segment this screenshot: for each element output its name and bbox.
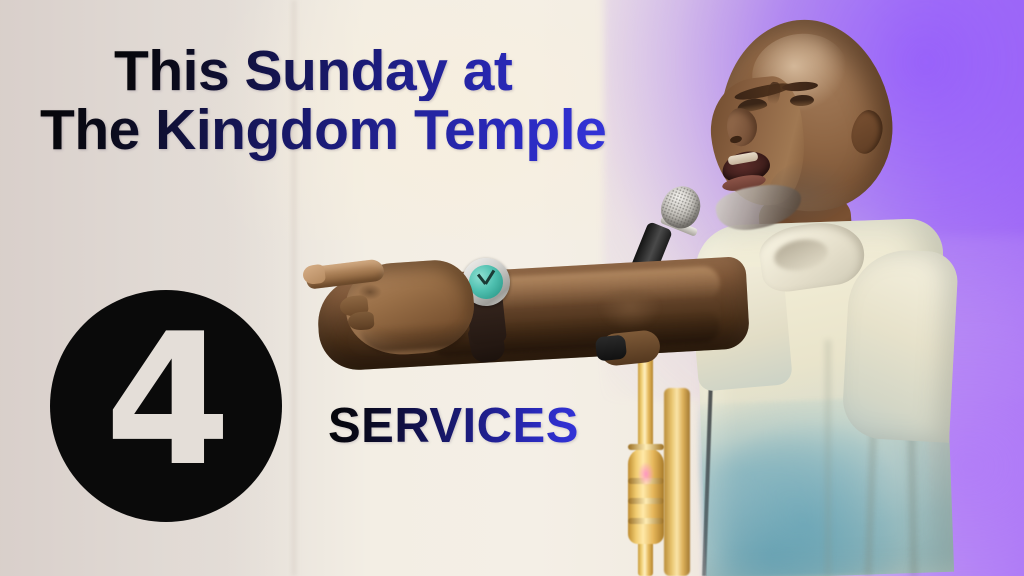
right-shoulder	[841, 247, 959, 442]
shirt-fold	[824, 340, 832, 576]
services-label: SERVICES	[328, 398, 579, 454]
service-count-badge: 4	[50, 290, 282, 522]
poster-canvas: This Sunday at The Kingdom Temple 4 SERV…	[0, 0, 1024, 576]
microphone-tail	[595, 334, 627, 361]
headline-line-1: This Sunday at	[114, 42, 660, 101]
index-fingertip	[302, 264, 326, 286]
microphone-mesh	[657, 182, 705, 233]
headline-line-2: The Kingdom Temple	[40, 101, 660, 160]
service-count-number: 4	[105, 309, 228, 491]
headline: This Sunday at The Kingdom Temple	[40, 42, 660, 161]
